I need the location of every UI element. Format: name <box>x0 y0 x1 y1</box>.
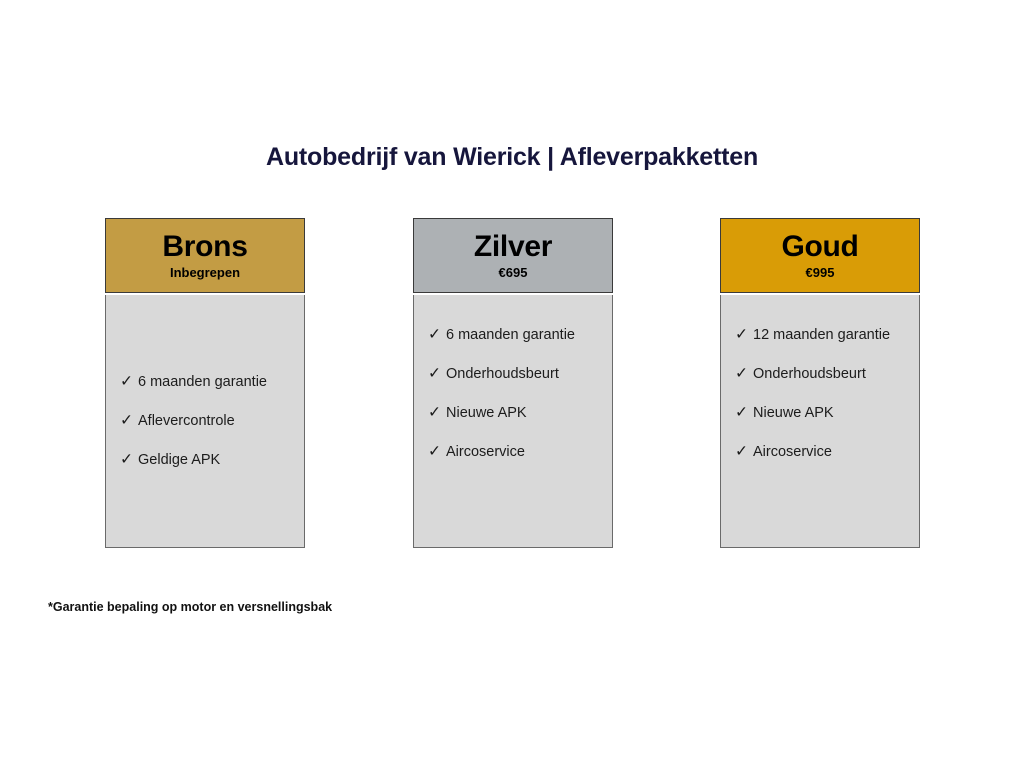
list-item: ✓ Onderhoudsbeurt <box>721 366 919 382</box>
list-item: ✓ Nieuwe APK <box>414 405 612 421</box>
check-icon: ✓ <box>428 405 441 421</box>
card-body-zilver: ✓ 6 maanden garantie ✓ Onderhoudsbeurt ✓… <box>413 295 613 548</box>
card-body-brons: ✓ 6 maanden garantie ✓ Aflevercontrole ✓… <box>105 295 305 548</box>
tier-name-zilver: Zilver <box>474 231 552 263</box>
feature-label: Aircoservice <box>753 444 832 460</box>
feature-label: Nieuwe APK <box>753 405 834 421</box>
tier-price-brons: Inbegrepen <box>170 266 240 280</box>
feature-label: 6 maanden garantie <box>446 327 575 343</box>
feature-label: Onderhoudsbeurt <box>753 366 866 382</box>
feature-label: 12 maanden garantie <box>753 327 890 343</box>
card-header-goud: Goud €995 <box>720 218 920 293</box>
pricing-card-brons: Brons Inbegrepen ✓ 6 maanden garantie ✓ … <box>105 218 305 548</box>
list-item: ✓ Aircoservice <box>721 444 919 460</box>
footnote-text: *Garantie bepaling op motor en versnelli… <box>48 600 332 614</box>
check-icon: ✓ <box>120 452 133 468</box>
list-item: ✓ Aflevercontrole <box>106 413 304 429</box>
card-body-goud: ✓ 12 maanden garantie ✓ Onderhoudsbeurt … <box>720 295 920 548</box>
feature-label: Geldige APK <box>138 452 220 468</box>
check-icon: ✓ <box>735 405 748 421</box>
check-icon: ✓ <box>735 366 748 382</box>
feature-label: Onderhoudsbeurt <box>446 366 559 382</box>
card-header-zilver: Zilver €695 <box>413 218 613 293</box>
tier-price-zilver: €695 <box>499 266 528 280</box>
list-item: ✓ Onderhoudsbeurt <box>414 366 612 382</box>
feature-label: Aircoservice <box>446 444 525 460</box>
check-icon: ✓ <box>428 366 441 382</box>
tier-name-brons: Brons <box>162 231 247 263</box>
feature-label: Aflevercontrole <box>138 413 235 429</box>
list-item: ✓ 6 maanden garantie <box>414 327 612 343</box>
tier-price-goud: €995 <box>806 266 835 280</box>
tier-name-goud: Goud <box>781 231 858 263</box>
check-icon: ✓ <box>735 444 748 460</box>
pricing-card-zilver: Zilver €695 ✓ 6 maanden garantie ✓ Onder… <box>413 218 613 548</box>
check-icon: ✓ <box>428 444 441 460</box>
page-title: Autobedrijf van Wierick | Afleverpakkett… <box>0 143 1024 172</box>
list-item: ✓ Nieuwe APK <box>721 405 919 421</box>
check-icon: ✓ <box>735 327 748 343</box>
list-item: ✓ Geldige APK <box>106 452 304 468</box>
feature-label: Nieuwe APK <box>446 405 527 421</box>
card-header-brons: Brons Inbegrepen <box>105 218 305 293</box>
check-icon: ✓ <box>428 327 441 343</box>
list-item: ✓ Aircoservice <box>414 444 612 460</box>
list-item: ✓ 12 maanden garantie <box>721 327 919 343</box>
feature-label: 6 maanden garantie <box>138 374 267 390</box>
list-item: ✓ 6 maanden garantie <box>106 374 304 390</box>
check-icon: ✓ <box>120 374 133 390</box>
pricing-cards-container: Brons Inbegrepen ✓ 6 maanden garantie ✓ … <box>105 218 920 548</box>
pricing-card-goud: Goud €995 ✓ 12 maanden garantie ✓ Onderh… <box>720 218 920 548</box>
check-icon: ✓ <box>120 413 133 429</box>
